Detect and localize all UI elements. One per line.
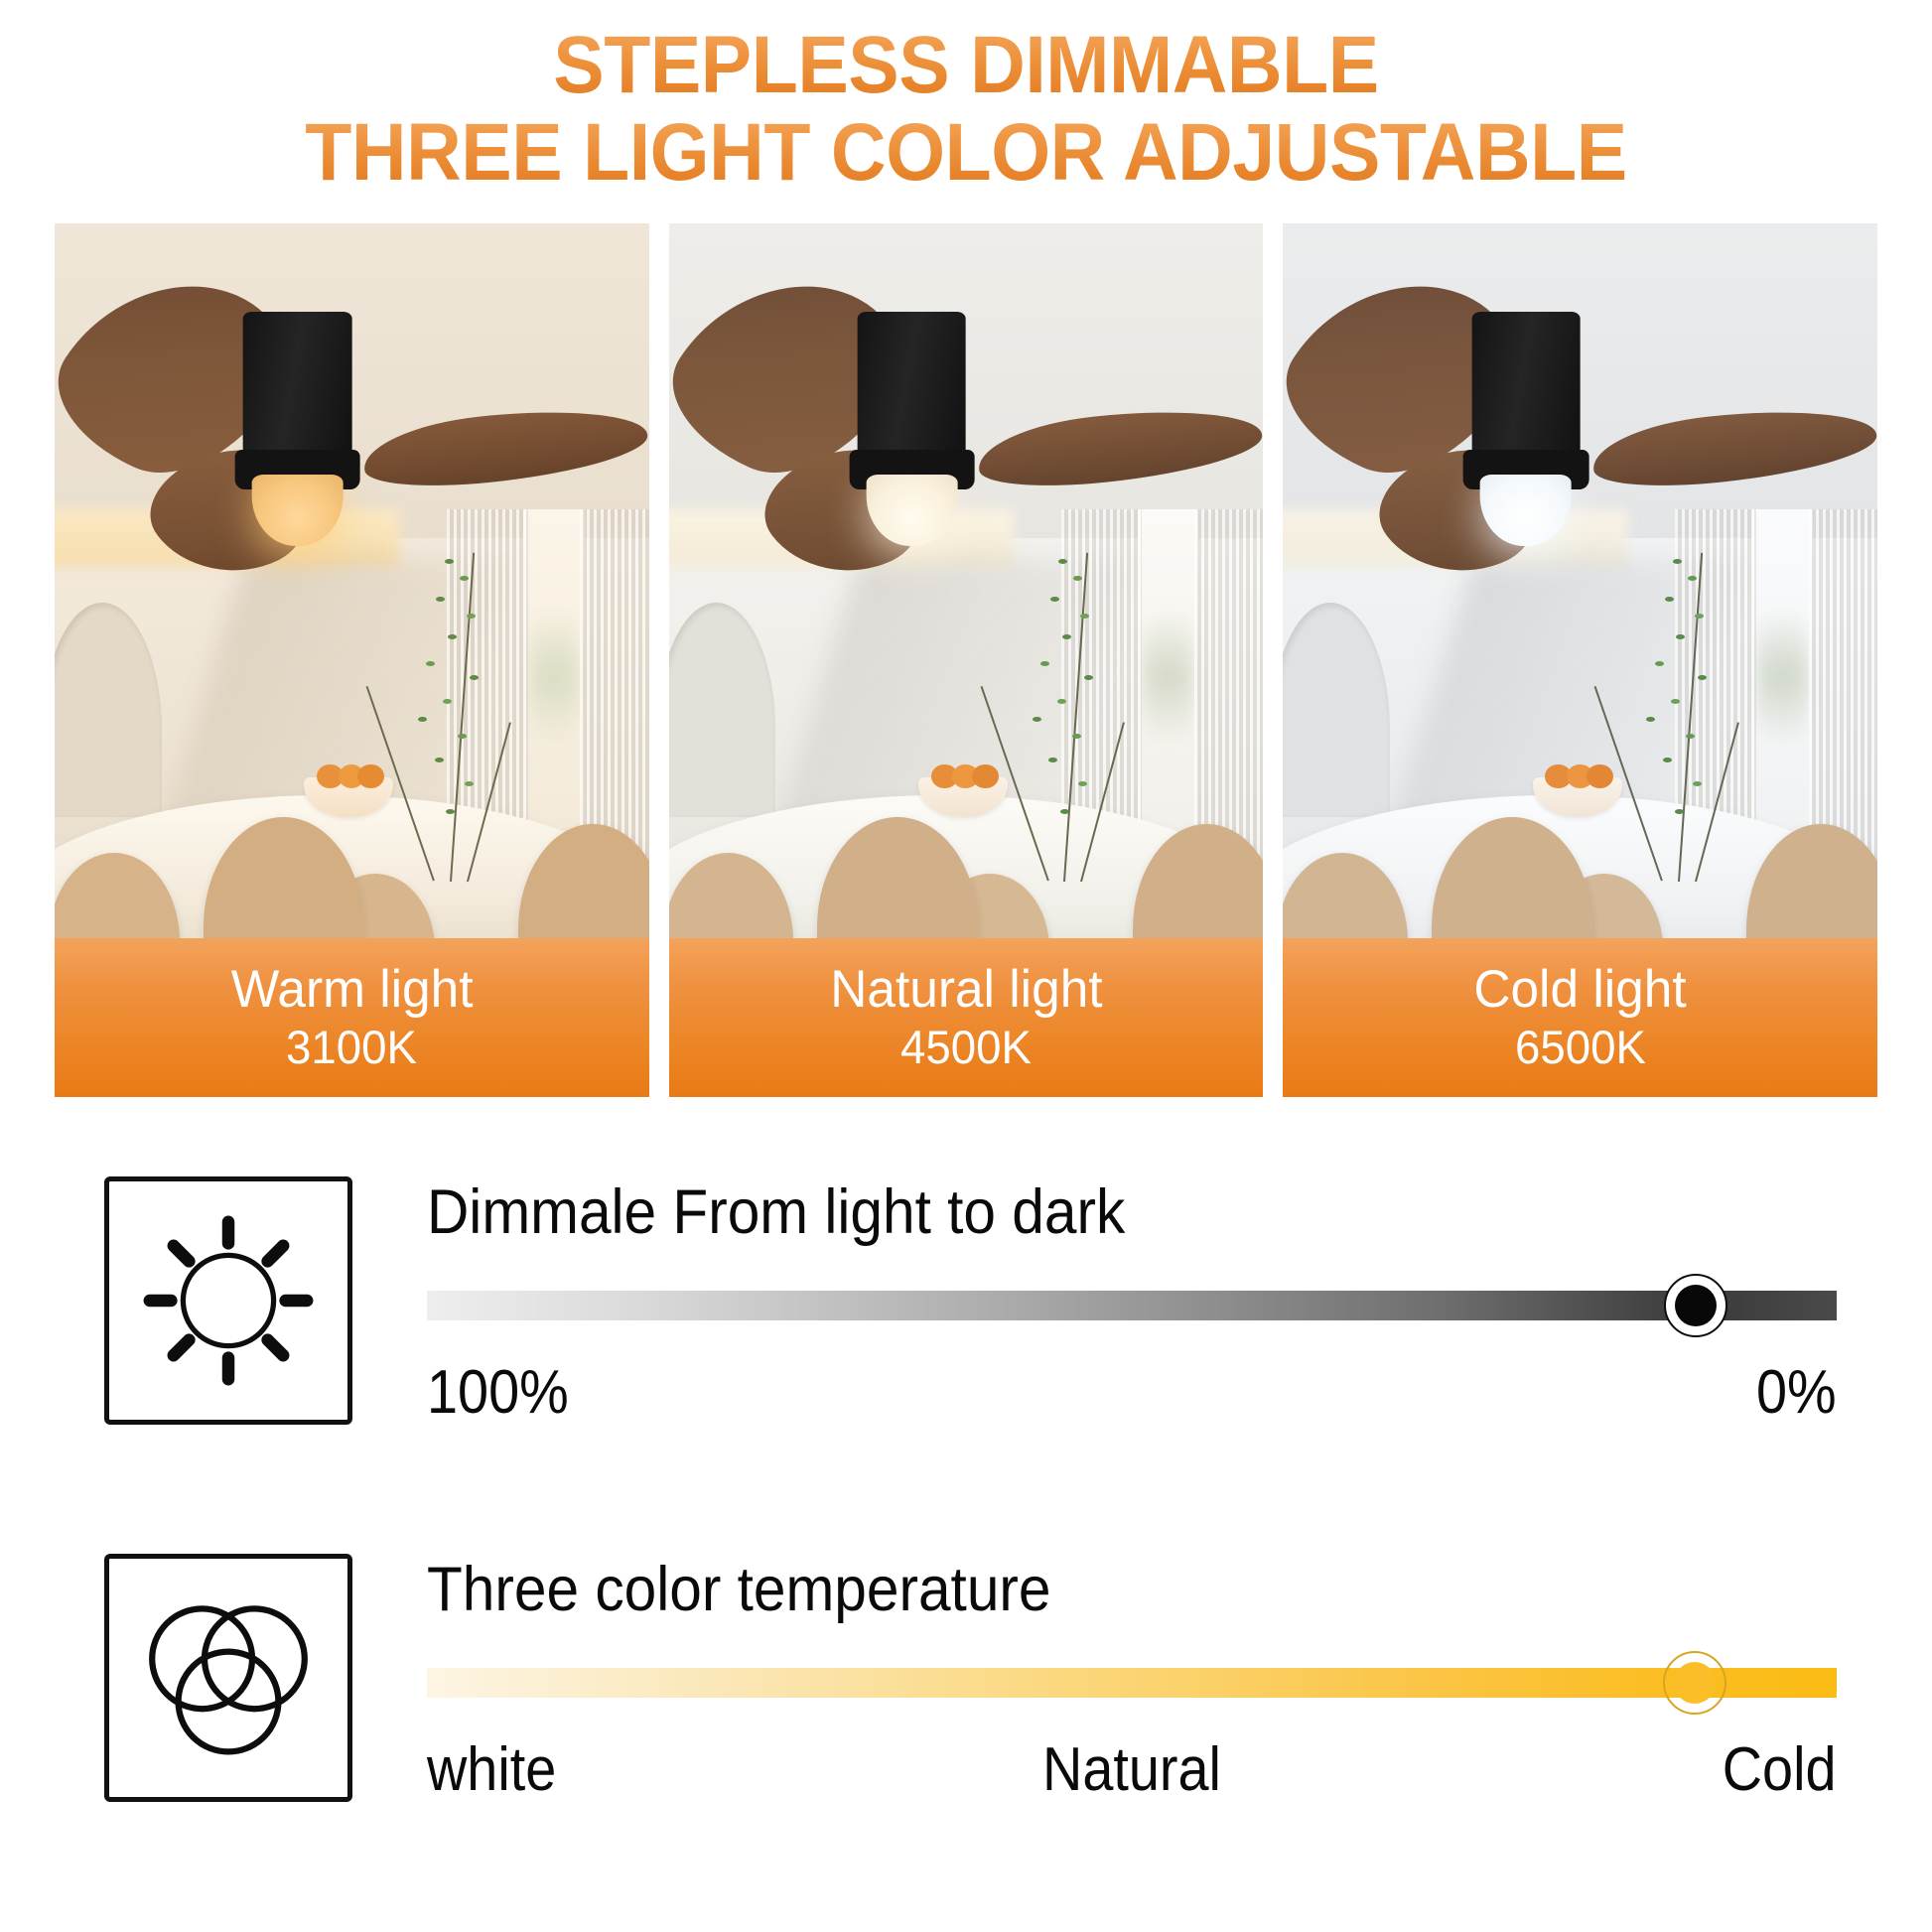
- caption-light-temperature: 6500K: [1515, 1020, 1646, 1075]
- color-temperature-body: Three color temperature white Natural Co…: [427, 1554, 1881, 1813]
- brightness-slider[interactable]: [427, 1275, 1837, 1336]
- panel-warm-light: Warm light 3100K: [55, 223, 649, 1097]
- potted-plant: [369, 538, 536, 882]
- panel-cold-light: Cold light 6500K: [1283, 223, 1877, 1097]
- caption-light-temperature: 3100K: [286, 1020, 417, 1075]
- color-temperature-slider-handle[interactable]: [1663, 1651, 1726, 1715]
- caption-light-temperature: 4500K: [900, 1020, 1032, 1075]
- brightness-slider-track[interactable]: [427, 1291, 1837, 1320]
- panel-natural-light: Natural light 4500K: [669, 223, 1264, 1097]
- brightness-label-right: 0%: [1756, 1356, 1837, 1430]
- light-color-panel-row: Warm light 3100K: [55, 223, 1877, 1097]
- fan-motor-housing: [1471, 312, 1580, 468]
- dimming-title: Dimmale From light to dark: [427, 1176, 1779, 1248]
- caption-light-name: Warm light: [230, 960, 473, 1020]
- color-temperature-slider-labels: white Natural Cold: [427, 1733, 1837, 1813]
- color-temperature-icon-box: [104, 1554, 352, 1802]
- color-temperature-slider-track[interactable]: [427, 1668, 1837, 1698]
- three-overlapping-circles-icon: [109, 1559, 347, 1797]
- potted-plant: [1598, 538, 1765, 882]
- fan-motor-housing: [243, 312, 351, 468]
- color-temperature-label-right: Cold: [1723, 1733, 1837, 1807]
- feature-color-temperature: Three color temperature white Natural Co…: [104, 1554, 1881, 1862]
- potted-plant: [984, 538, 1151, 882]
- fan-blade: [1588, 399, 1877, 494]
- fan-blade: [360, 399, 649, 494]
- scene-image-cold: [1283, 223, 1877, 938]
- color-temperature-label-middle: Natural: [1042, 1733, 1221, 1807]
- page-title: STEPLESS DIMMABLE THREE LIGHT COLOR ADJU…: [0, 22, 1932, 197]
- panel-caption-warm: Warm light 3100K: [55, 938, 649, 1097]
- feature-dimming: Dimmale From light to dark 100% 0%: [104, 1176, 1881, 1484]
- brightness-icon-box: [104, 1176, 352, 1425]
- color-temperature-label-left: white: [427, 1733, 556, 1807]
- panel-caption-cold: Cold light 6500K: [1283, 938, 1877, 1097]
- page-title-line-1: STEPLESS DIMMABLE: [58, 22, 1873, 109]
- brightness-label-left: 100%: [427, 1356, 569, 1430]
- fan-motor-housing: [858, 312, 966, 468]
- brightness-slider-labels: 100% 0%: [427, 1356, 1837, 1436]
- ceiling-fan: [681, 252, 1252, 552]
- color-temperature-title: Three color temperature: [427, 1554, 1779, 1625]
- caption-light-name: Natural light: [830, 960, 1102, 1020]
- brightness-sun-icon: [109, 1181, 347, 1420]
- dimming-body: Dimmale From light to dark 100% 0%: [427, 1176, 1881, 1436]
- scene-image-natural: [669, 223, 1264, 938]
- scene-image-warm: [55, 223, 649, 938]
- ceiling-fan: [67, 252, 637, 552]
- ceiling-fan: [1295, 252, 1865, 552]
- panel-caption-natural: Natural light 4500K: [669, 938, 1264, 1097]
- fan-blade: [975, 399, 1264, 494]
- brightness-slider-handle[interactable]: [1664, 1274, 1727, 1337]
- page-title-line-2: THREE LIGHT COLOR ADJUSTABLE: [58, 109, 1873, 197]
- caption-light-name: Cold light: [1474, 960, 1687, 1020]
- color-temperature-slider[interactable]: [427, 1652, 1837, 1714]
